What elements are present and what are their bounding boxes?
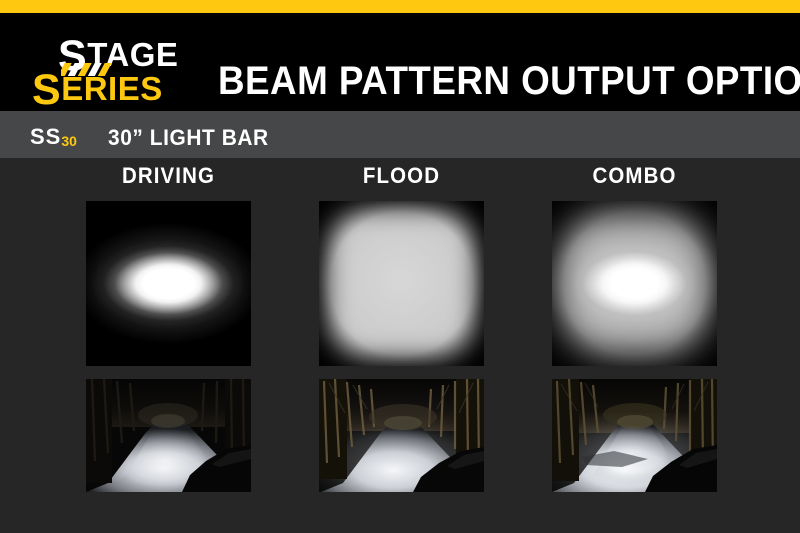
column-label-combo: COMBO [553, 165, 716, 187]
product-subbar: SS30 30” LIGHT BAR [0, 111, 800, 158]
road-photo-flood-svg [319, 379, 484, 492]
beam-flood-vignette [319, 201, 484, 366]
bottom-background-fill [0, 506, 800, 533]
column-label-driving: DRIVING [87, 165, 250, 187]
ss30-badge-subscript: 30 [61, 133, 77, 149]
header-banner: STAGE SERIES BEAM PATTERN OUTPUT OPTIONS [0, 13, 800, 111]
logo-series-rest: ERIES [61, 70, 163, 107]
page-title: BEAM PATTERN OUTPUT OPTIONS [218, 59, 800, 104]
road-photo-driving-svg [86, 379, 251, 492]
column-label-flood: FLOOD [320, 165, 483, 187]
road-photo-combo [552, 379, 717, 492]
logo-series-cap: S [32, 66, 61, 114]
column-combo: COMBO [547, 165, 722, 492]
beam-pattern-flood [319, 201, 484, 366]
ss30-badge: SS30 [30, 126, 77, 148]
column-driving: DRIVING [81, 165, 256, 492]
beam-pattern-combo [552, 201, 717, 366]
beam-pattern-driving [86, 201, 251, 366]
top-accent-bar [0, 0, 800, 13]
beam-combo-vignette [552, 201, 717, 366]
product-subtitle: 30” LIGHT BAR [108, 127, 269, 149]
road-photo-combo-svg [552, 379, 717, 492]
road-photo-flood [319, 379, 484, 492]
beam-pattern-infographic: STAGE SERIES BEAM PATTERN OUTPUT OPTIONS… [0, 0, 800, 533]
beam-driving-vignette [86, 201, 251, 366]
road-photo-driving [86, 379, 251, 492]
stage-series-logo: STAGE SERIES [28, 35, 188, 107]
logo-line-series: SERIES [32, 69, 163, 112]
column-flood: FLOOD [314, 165, 489, 492]
ss30-badge-main: SS [30, 124, 61, 149]
